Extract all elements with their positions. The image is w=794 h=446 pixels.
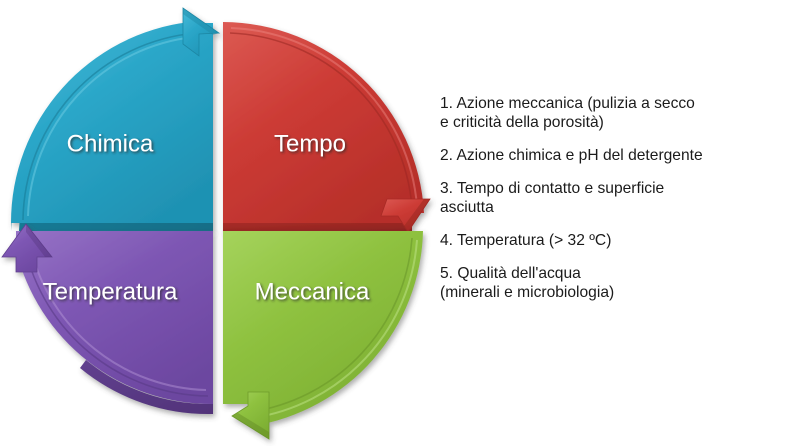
list-item: 3. Tempo di contatto e superficie asciut… bbox=[440, 179, 790, 217]
notes-list: 1. Azione meccanica (pulizia a secco e c… bbox=[440, 94, 790, 302]
quadrant-meccanica[interactable]: Meccanica bbox=[223, 231, 423, 439]
quadrant-temperatura[interactable]: Temperatura bbox=[2, 224, 213, 414]
quadrant-tempo[interactable]: Tempo bbox=[223, 22, 430, 232]
quadrant-label-chimica: Chimica bbox=[67, 130, 154, 157]
list-item: 5. Qualità dell'acqua (minerali e microb… bbox=[440, 264, 790, 302]
tempo-body bbox=[223, 22, 424, 223]
chimica-body bbox=[11, 22, 213, 223]
list-item: 1. Azione meccanica (pulizia a secco e c… bbox=[440, 94, 790, 132]
quadrant-label-temperatura: Temperatura bbox=[43, 278, 178, 305]
quadrant-chimica[interactable]: Chimica bbox=[11, 8, 219, 231]
cycle-diagram: Chimica Tempo Meccanica bbox=[0, 0, 440, 446]
tempo-edge bbox=[223, 223, 412, 231]
list-item: 4. Temperatura (> 32 ºC) bbox=[440, 231, 790, 250]
list-item: 2. Azione chimica e pH del detergente bbox=[440, 146, 790, 165]
cycle-diagram-page: Chimica Tempo Meccanica bbox=[0, 0, 794, 446]
quadrant-label-tempo: Tempo bbox=[274, 130, 346, 157]
quadrant-label-meccanica: Meccanica bbox=[255, 278, 370, 305]
